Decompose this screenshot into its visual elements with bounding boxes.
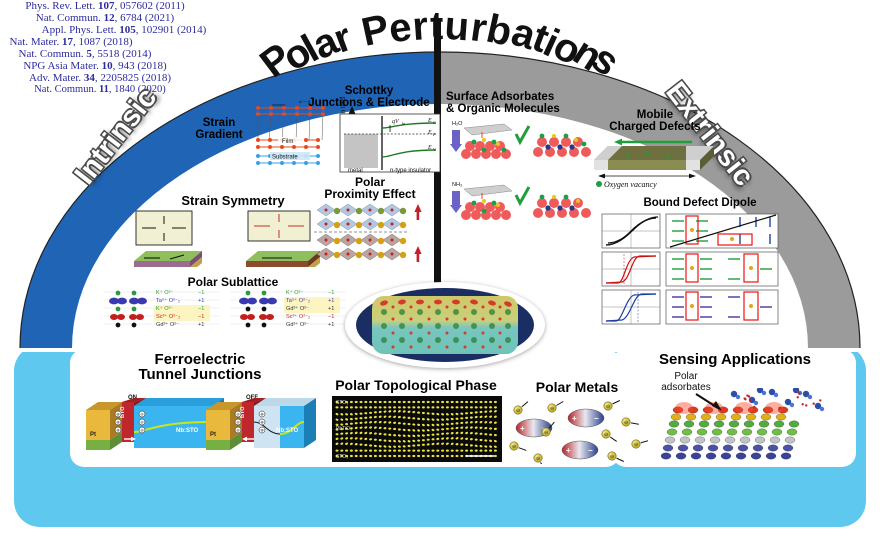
- nbsto-label-off: Nb:STO: [276, 428, 299, 434]
- bto-label-off: BTO: [240, 406, 246, 418]
- svg-text:+1: +1: [328, 298, 334, 304]
- svg-text:Gd³⁺ O²⁻: Gd³⁺ O²⁻: [286, 321, 309, 328]
- svg-text:⊖: ⊖: [140, 419, 143, 424]
- svg-text:E: E: [427, 118, 432, 124]
- ftj-heading: Ferroelectric Tunnel Junctions: [90, 352, 310, 383]
- sensing-graphic: [660, 388, 836, 466]
- svg-text:−1: −1: [198, 306, 204, 312]
- insulator-label: n-type insulator: [390, 168, 431, 174]
- svg-text:Gd³⁺ O²⁻: Gd³⁺ O²⁻: [286, 305, 309, 312]
- sto-bottom-label: STO₃: [336, 454, 348, 460]
- pt-label-off: Pt: [210, 432, 216, 438]
- polar-proximity-graphic: [308, 200, 434, 274]
- bound-defect-dipole-heading: Bound Defect Dipole: [600, 198, 800, 210]
- svg-text:Ta⁵⁺ O²⁻₂: Ta⁵⁺ O²⁻₂: [156, 297, 180, 304]
- svg-text:E: E: [427, 145, 432, 151]
- nbsto-label-on: Nb:STO: [176, 428, 199, 434]
- sto-top-label: STO₃: [336, 400, 348, 406]
- schottky-heading: Schottky Junctions & Electrode: [296, 86, 442, 110]
- svg-text:⊕: ⊕: [260, 419, 263, 424]
- svg-text:V: V: [433, 147, 436, 152]
- svg-text:−1: −1: [198, 290, 204, 296]
- svg-text:−: −: [588, 446, 593, 455]
- svg-text:⊕: ⊕: [116, 419, 119, 424]
- p-label-off: P: [246, 442, 250, 448]
- svg-text:⊖: ⊖: [610, 454, 614, 460]
- svg-text:C: C: [433, 120, 436, 125]
- svg-text:⊖: ⊖: [536, 456, 540, 462]
- svg-text:E: E: [427, 130, 432, 136]
- substrate-label: Substrate: [272, 155, 298, 161]
- polar-topological-heading: Polar Topological Phase: [308, 378, 524, 392]
- svg-text:⊖: ⊖: [544, 430, 548, 436]
- polar-sublattice-graphic: K⁺ O²⁻−1 Ta⁵⁺ O²⁻₂+1 K⁺ O²⁻−1 Sc³⁺ O²⁻₂−…: [100, 288, 348, 332]
- check-icon-1: [516, 126, 529, 142]
- pto-label: PbTiO₃: [336, 426, 352, 432]
- svg-text:⊖: ⊖: [512, 444, 516, 450]
- check-icon-2: [516, 187, 529, 203]
- svg-text:⊖: ⊖: [624, 420, 628, 426]
- oxygen-vacancy-legend: Oxygen vacancy: [596, 180, 657, 189]
- svg-text:F: F: [432, 132, 436, 137]
- svg-text:⊖: ⊖: [604, 432, 608, 438]
- svg-text:Gd³⁺ O²⁻: Gd³⁺ O²⁻: [156, 321, 179, 328]
- surface-adsorbates-heading: Surface Adsorbates & Organic Molecules: [446, 92, 586, 116]
- svg-text:+1: +1: [198, 298, 204, 304]
- figure-root: Polar Perturbations Intrinsic Extrinsic …: [0, 0, 880, 533]
- page-title: Polar Perturbations: [0, 4, 880, 49]
- svg-text:K⁺ O²⁻: K⁺ O²⁻: [156, 289, 173, 296]
- svg-text:⊖: ⊖: [140, 427, 143, 432]
- strain-gradient-heading-2: Gradient: [188, 130, 250, 142]
- svg-text:+1: +1: [198, 322, 204, 328]
- polar-proximity-heading: Polar Proximity Effect: [300, 176, 440, 201]
- sensing-heading: Sensing Applications: [620, 352, 850, 367]
- metal-label: metal: [348, 168, 363, 174]
- svg-text:K⁺ O²⁻: K⁺ O²⁻: [286, 289, 303, 296]
- surface-adsorbates-graphic: H₂O NH₃: [446, 116, 596, 244]
- pt-label-on: Pt: [90, 432, 96, 438]
- mobile-charged-defects-graphic: [588, 134, 724, 182]
- svg-text:⊖: ⊖: [550, 406, 554, 412]
- svg-text:⊖: ⊖: [634, 442, 638, 448]
- svg-text:⊖: ⊖: [236, 427, 239, 432]
- schottky-band-diagram: EC EF EV qVbi metal n-type insulator: [338, 112, 442, 174]
- mobile-charged-defects-heading: Mobile Charged Defects: [590, 110, 720, 134]
- center-lattice-image: [372, 296, 518, 354]
- p-label-on: P: [126, 442, 130, 448]
- polar-metals-heading: Polar Metals: [512, 380, 642, 394]
- svg-text:⊖: ⊖: [516, 408, 520, 414]
- bound-defect-dipole-graphic: [600, 212, 808, 328]
- svg-text:Sc³⁺ O²⁻₂: Sc³⁺ O²⁻₂: [286, 313, 310, 320]
- svg-text:+: +: [566, 446, 571, 455]
- polar-topological-image: STO₃ PbTiO₃ STO₃: [332, 396, 502, 462]
- nh3-label: NH₃: [452, 182, 462, 188]
- svg-text:⊕: ⊕: [260, 427, 263, 432]
- svg-text:+1: +1: [328, 306, 334, 312]
- oxygen-vacancy-dot: [596, 181, 602, 187]
- svg-text:+1: +1: [328, 322, 334, 328]
- polar-sublattice-heading: Polar Sublattice: [118, 276, 348, 288]
- svg-text:−: −: [594, 414, 599, 423]
- svg-text:⊕: ⊕: [260, 411, 263, 416]
- panel-strain-gradient: Strain Gradient: [188, 118, 250, 142]
- svg-text:+: +: [520, 424, 525, 433]
- svg-text:+: +: [572, 414, 577, 423]
- svg-text:Ta⁵⁺ O²⁻₂: Ta⁵⁺ O²⁻₂: [286, 297, 310, 304]
- svg-text:⊕: ⊕: [116, 427, 119, 432]
- svg-text:−1: −1: [328, 290, 334, 296]
- film-label: Film: [282, 139, 293, 145]
- svg-text:Sc³⁺ O²⁻₂: Sc³⁺ O²⁻₂: [156, 313, 180, 320]
- polar-metals-graphic: + − + − + − ⊖⊖⊖⊖⊖⊖⊖⊖⊖⊖: [508, 398, 648, 464]
- svg-text:⊖: ⊖: [606, 404, 610, 410]
- svg-text:⊖: ⊖: [236, 411, 239, 416]
- svg-text:⊕: ⊕: [116, 411, 119, 416]
- h2o-label: H₂O: [452, 121, 463, 127]
- bto-label-on: BTO: [120, 406, 126, 418]
- ftj-graphic: ON Pt BTO Nb:STO ⊕⊕⊕ ⊖⊖⊖: [84, 392, 316, 464]
- svg-text:K⁺ O²⁻: K⁺ O²⁻: [156, 305, 173, 312]
- svg-text:⊖: ⊖: [236, 419, 239, 424]
- svg-text:−1: −1: [198, 314, 204, 320]
- svg-text:⊖: ⊖: [140, 411, 143, 416]
- svg-text:−1: −1: [328, 314, 334, 320]
